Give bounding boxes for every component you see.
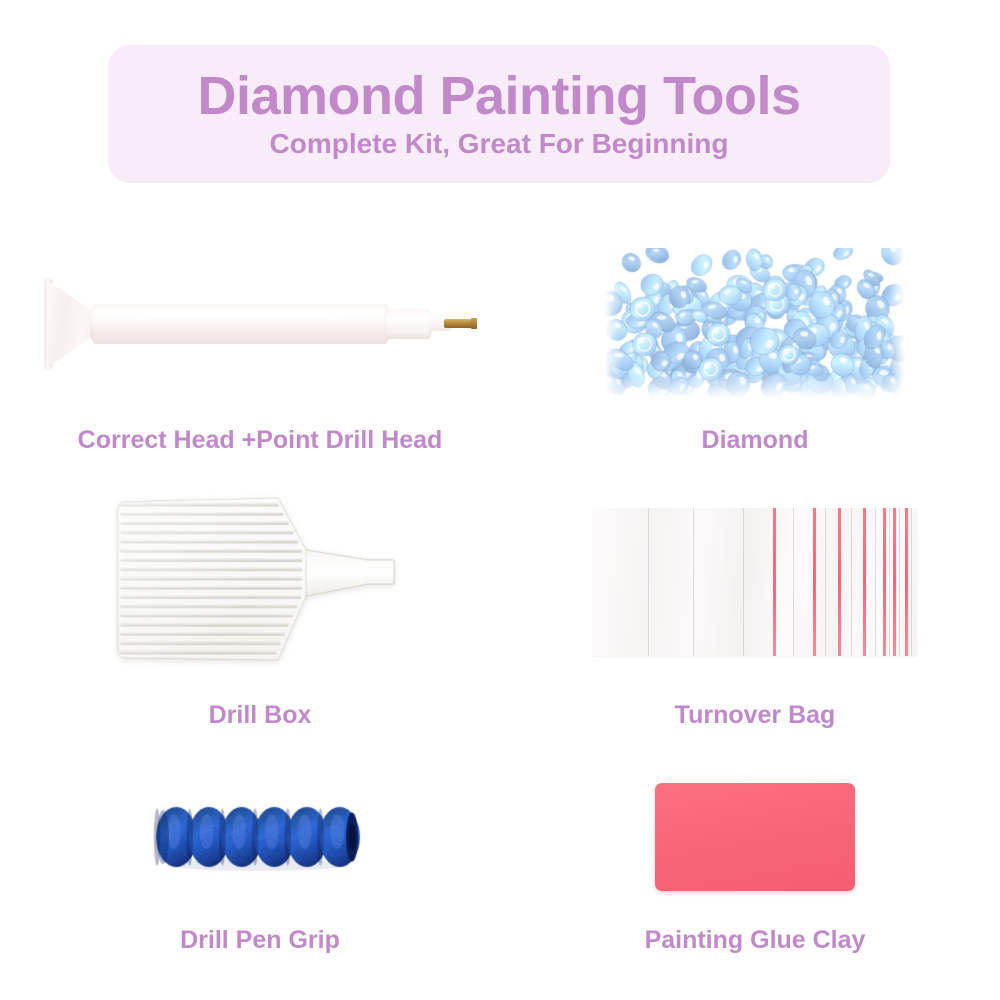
product-cell-drill-pen: Correct Head +Point Drill Head xyxy=(10,230,510,455)
product-art-turnover-bag xyxy=(520,488,990,673)
bag-seal-stripe xyxy=(813,508,816,656)
bag-fold-line xyxy=(911,508,912,656)
bag-fold-line xyxy=(889,508,890,656)
bag-seal-stripe xyxy=(863,508,866,656)
bag-fold-line xyxy=(743,508,744,656)
bag-fold-line xyxy=(693,508,694,656)
product-label-drill-pen: Correct Head +Point Drill Head xyxy=(78,426,443,455)
pen-point-drill-tip xyxy=(444,319,474,328)
diamond-rhinestones-icon xyxy=(605,248,905,398)
bag-film xyxy=(593,508,917,656)
bag-seal-stripe xyxy=(773,508,776,656)
pen-correct-head xyxy=(48,281,96,367)
product-art-drill-box xyxy=(10,488,510,673)
product-cell-diamond: Diamond xyxy=(520,230,990,455)
bag-fold-line xyxy=(851,508,852,656)
page-title: Diamond Painting Tools xyxy=(198,68,801,125)
bag-seal-stripe xyxy=(838,508,841,656)
product-cell-glue-clay: Painting Glue Clay xyxy=(520,755,990,955)
page-subtitle: Complete Kit, Great For Beginning xyxy=(270,129,729,160)
product-cell-drill-box: Drill Box xyxy=(10,480,510,730)
bag-fold-line xyxy=(875,508,876,656)
product-label-turnover-bag: Turnover Bag xyxy=(675,701,836,730)
product-cell-turnover-bag: Turnover Bag xyxy=(520,480,990,730)
diamond-pile-canvas xyxy=(605,248,905,398)
pen-collar xyxy=(384,309,432,339)
bag-seal-stripe xyxy=(893,508,896,656)
drill-tray-canvas xyxy=(110,488,410,673)
drill-pen-icon xyxy=(40,263,480,383)
foam-grip-canvas xyxy=(150,787,370,887)
bag-seal-stripe xyxy=(883,508,886,656)
bag-fold-line xyxy=(899,508,900,656)
clay-block xyxy=(655,783,855,891)
pen-tip-end xyxy=(471,318,477,329)
pen-shaft xyxy=(90,304,390,344)
product-art-drill-pen-grip xyxy=(10,772,510,902)
product-label-drill-box: Drill Box xyxy=(209,701,312,730)
product-cell-drill-pen-grip: Drill Pen Grip xyxy=(10,755,510,955)
pen-shaft-gloss xyxy=(102,311,374,319)
drill-tray-icon xyxy=(110,488,410,673)
bag-fold-line xyxy=(648,508,649,656)
bag-fold-line xyxy=(793,508,794,656)
product-label-glue-clay: Painting Glue Clay xyxy=(645,926,866,955)
product-art-diamond xyxy=(520,248,990,398)
bag-seal-stripe xyxy=(905,508,908,656)
product-art-drill-pen xyxy=(10,248,510,398)
header-banner: Diamond Painting Tools Complete Kit, Gre… xyxy=(108,45,890,183)
product-art-glue-clay xyxy=(520,772,990,902)
zip-bag-icon xyxy=(585,496,925,666)
foam-grip-icon xyxy=(150,787,370,887)
glue-clay-icon xyxy=(645,777,865,897)
bag-fold-line xyxy=(825,508,826,656)
product-label-diamond: Diamond xyxy=(702,426,809,455)
product-label-drill-pen-grip: Drill Pen Grip xyxy=(180,926,340,955)
